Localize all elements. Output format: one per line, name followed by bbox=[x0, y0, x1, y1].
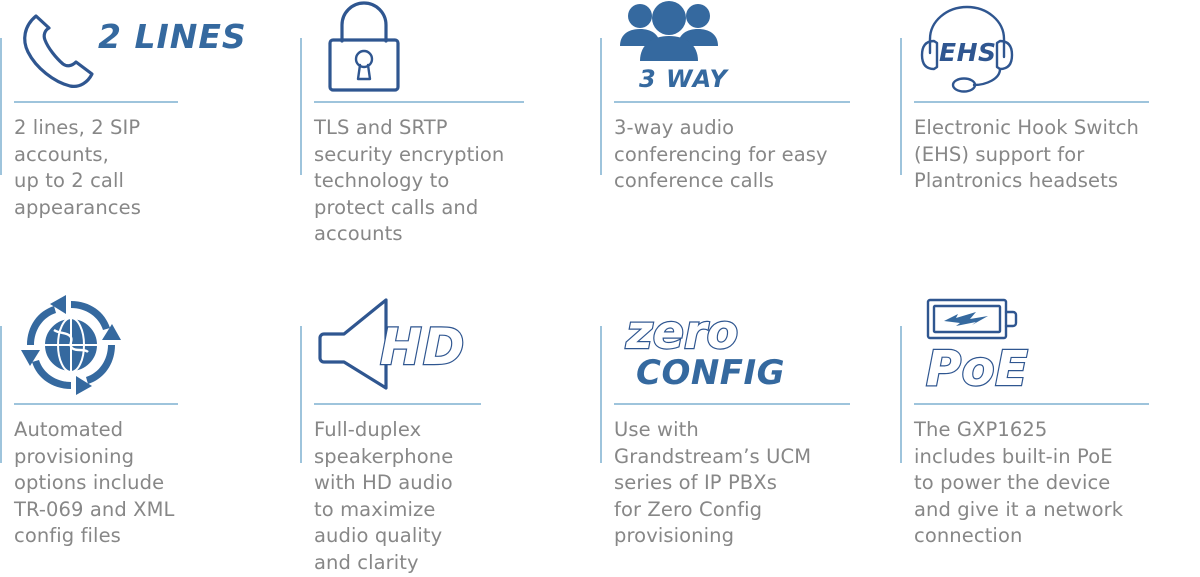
horizontal-rule bbox=[14, 101, 178, 103]
feature-card-security: TLS and SRTP security encryption technol… bbox=[300, 0, 600, 290]
zero-config-icon: zero CONFIG bbox=[614, 296, 774, 396]
icon-label-hd: HD bbox=[380, 318, 465, 376]
icon-zone: HD bbox=[314, 290, 600, 398]
feature-card-hd-audio: HD Full-duplex speakerphone with HD audi… bbox=[300, 290, 600, 577]
icon-zone bbox=[314, 0, 600, 96]
feature-description: Use with Grandstream’s UCM series of IP … bbox=[614, 417, 900, 550]
icon-label-ehs: EHS bbox=[939, 38, 997, 67]
feature-card-poe: PoE The GXP1625 includes built-in PoE to… bbox=[900, 290, 1200, 577]
feature-card-three-way: 3 WAY 3-way audio conferencing for easy … bbox=[600, 0, 900, 290]
feature-description: The GXP1625 includes built-in PoE to pow… bbox=[914, 417, 1200, 550]
feature-description: Electronic Hook Switch (EHS) support for… bbox=[914, 115, 1200, 195]
horizontal-rule bbox=[914, 403, 1149, 405]
padlock-icon bbox=[314, 0, 424, 94]
vertical-rule bbox=[600, 38, 602, 175]
battery-poe-icon: PoE bbox=[914, 292, 1044, 396]
feature-description: TLS and SRTP security encryption technol… bbox=[314, 115, 600, 248]
feature-card-ehs: EHS Electronic Hook Switch (EHS) support… bbox=[900, 0, 1200, 290]
icon-label-poe: PoE bbox=[926, 341, 1028, 397]
icon-zone: PoE bbox=[914, 290, 1200, 398]
vertical-rule bbox=[900, 326, 902, 463]
icon-zone: 2 LINES bbox=[14, 0, 300, 96]
horizontal-rule bbox=[14, 403, 178, 405]
feature-card-provisioning: Automated provisioning options include T… bbox=[0, 290, 300, 577]
icon-zone: EHS bbox=[914, 0, 1200, 96]
horizontal-rule bbox=[314, 403, 481, 405]
vertical-rule bbox=[0, 326, 2, 463]
globe-sync-icon bbox=[14, 290, 134, 396]
feature-card-two-lines: 2 LINES 2 lines, 2 SIP accounts, up to 2… bbox=[0, 0, 300, 290]
vertical-rule bbox=[300, 326, 302, 463]
icon-label-zero: zero bbox=[625, 305, 738, 359]
feature-grid-page: 2 LINES 2 lines, 2 SIP accounts, up to 2… bbox=[0, 0, 1200, 577]
horizontal-rule bbox=[314, 101, 524, 103]
horizontal-rule bbox=[614, 403, 850, 405]
vertical-rule bbox=[900, 38, 902, 175]
icon-zone: 3 WAY bbox=[614, 0, 900, 96]
icon-label-config: CONFIG bbox=[636, 353, 785, 393]
horizontal-rule bbox=[614, 101, 850, 103]
three-people-icon: 3 WAY bbox=[614, 0, 744, 94]
phone-handset-icon: 2 LINES bbox=[14, 2, 189, 94]
vertical-rule bbox=[0, 38, 2, 175]
icon-label-two-lines: 2 LINES bbox=[98, 17, 247, 56]
feature-card-zero-config: zero CONFIG Use with Grandstream’s UCM s… bbox=[600, 290, 900, 577]
feature-description: Full-duplex speakerphone with HD audio t… bbox=[314, 417, 600, 576]
headset-icon: EHS bbox=[914, 1, 1034, 94]
feature-grid: 2 LINES 2 lines, 2 SIP accounts, up to 2… bbox=[0, 0, 1200, 577]
icon-label-three-way: 3 WAY bbox=[639, 65, 729, 93]
icon-zone bbox=[14, 290, 300, 398]
feature-description: 3-way audio conferencing for easy confer… bbox=[614, 115, 900, 195]
feature-description: Automated provisioning options include T… bbox=[14, 417, 300, 550]
feature-description: 2 lines, 2 SIP accounts, up to 2 call ap… bbox=[14, 115, 300, 221]
icon-zone: zero CONFIG bbox=[614, 290, 900, 398]
horizontal-rule bbox=[914, 101, 1149, 103]
vertical-rule bbox=[300, 38, 302, 175]
vertical-rule bbox=[600, 326, 602, 463]
speaker-hd-icon: HD bbox=[314, 292, 464, 396]
